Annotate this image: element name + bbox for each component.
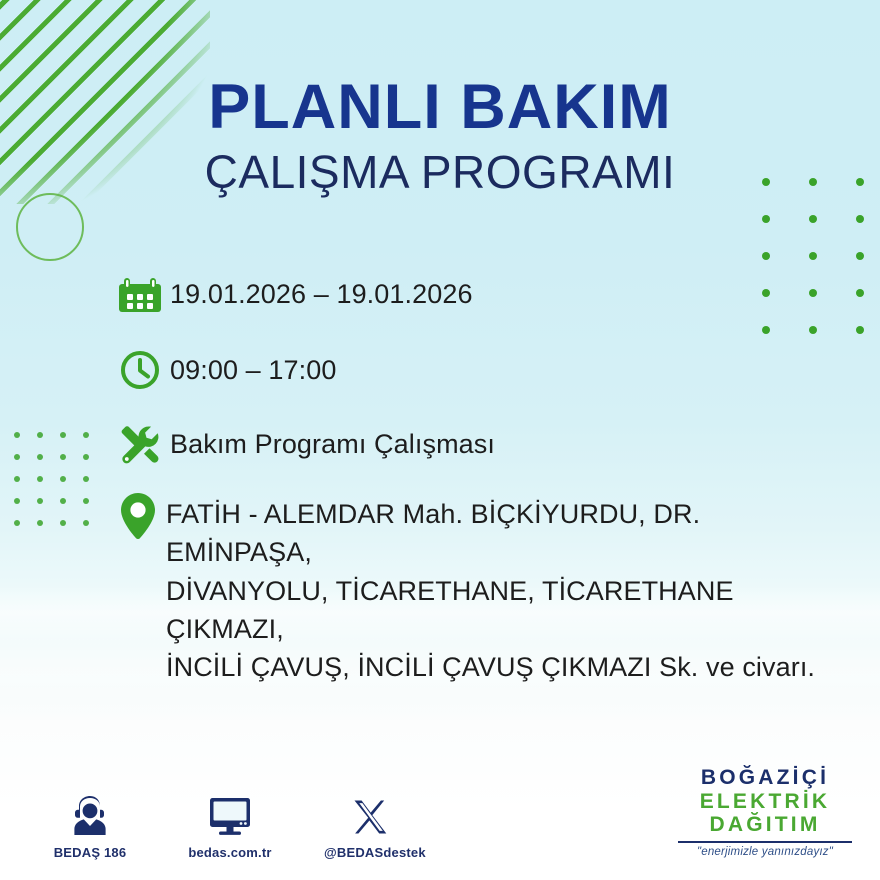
contact-call-center[interactable]: BEDAŞ 186 [44,791,136,860]
calendar-icon [118,272,170,322]
contact-x-social[interactable]: @BEDASdestek [324,791,416,860]
x-social-caption: @BEDASdestek [324,845,416,860]
work-type-text: Bakım Programı Çalışması [170,422,495,463]
poster-heading: PLANLI BAKIM ÇALIŞMA PROGRAMI [0,76,880,199]
call-center-caption: BEDAŞ 186 [44,845,136,860]
detail-row-date: 19.01.2026 – 19.01.2026 [118,272,840,322]
brand-line-elektrik: ELEKTRİK [672,790,858,814]
website-caption: bedas.com.tr [184,845,276,860]
poster-footer: BEDAŞ 186 bedas.com.tr [0,762,880,866]
detail-row-address: FATİH - ALEMDAR Mah. BİÇKİYURDU, DR. EMİ… [118,492,840,687]
circle-outline-decoration [16,193,84,261]
location-pin-icon [118,492,170,542]
date-range-text: 19.01.2026 – 19.01.2026 [170,272,473,313]
address-text: FATİH - ALEMDAR Mah. BİÇKİYURDU, DR. EMİ… [166,492,840,687]
dot-grid-left-decoration [14,432,89,526]
bedas-logo: BOĞAZİÇİ ELEKTRİK DAĞITIM "enerjimizle y… [672,766,858,858]
brand-tagline: "enerjimizle yanınızdayız" [672,846,858,858]
detail-row-time: 09:00 – 17:00 [118,348,840,398]
x-twitter-icon [324,791,416,837]
planned-maintenance-poster: PLANLI BAKIM ÇALIŞMA PROGRAMI [0,0,880,880]
contact-channels: BEDAŞ 186 bedas.com.tr [44,791,416,860]
clock-icon [118,348,170,398]
contact-website[interactable]: bedas.com.tr [184,791,276,860]
wave-band-decoration [0,700,880,764]
brand-line-bogazici: BOĞAZİÇİ [672,766,858,790]
page-subtitle: ÇALIŞMA PROGRAMI [0,147,880,199]
brand-divider [678,841,852,843]
brand-line-dagitim: DAĞITIM [672,813,858,837]
monitor-icon [184,791,276,837]
maintenance-details: 19.01.2026 – 19.01.2026 09:00 – 17:00 [118,272,840,709]
time-range-text: 09:00 – 17:00 [170,348,336,389]
tools-icon [118,422,170,472]
call-center-agent-icon [44,791,136,837]
detail-row-work-type: Bakım Programı Çalışması [118,422,840,472]
page-title: PLANLI BAKIM [0,76,880,139]
